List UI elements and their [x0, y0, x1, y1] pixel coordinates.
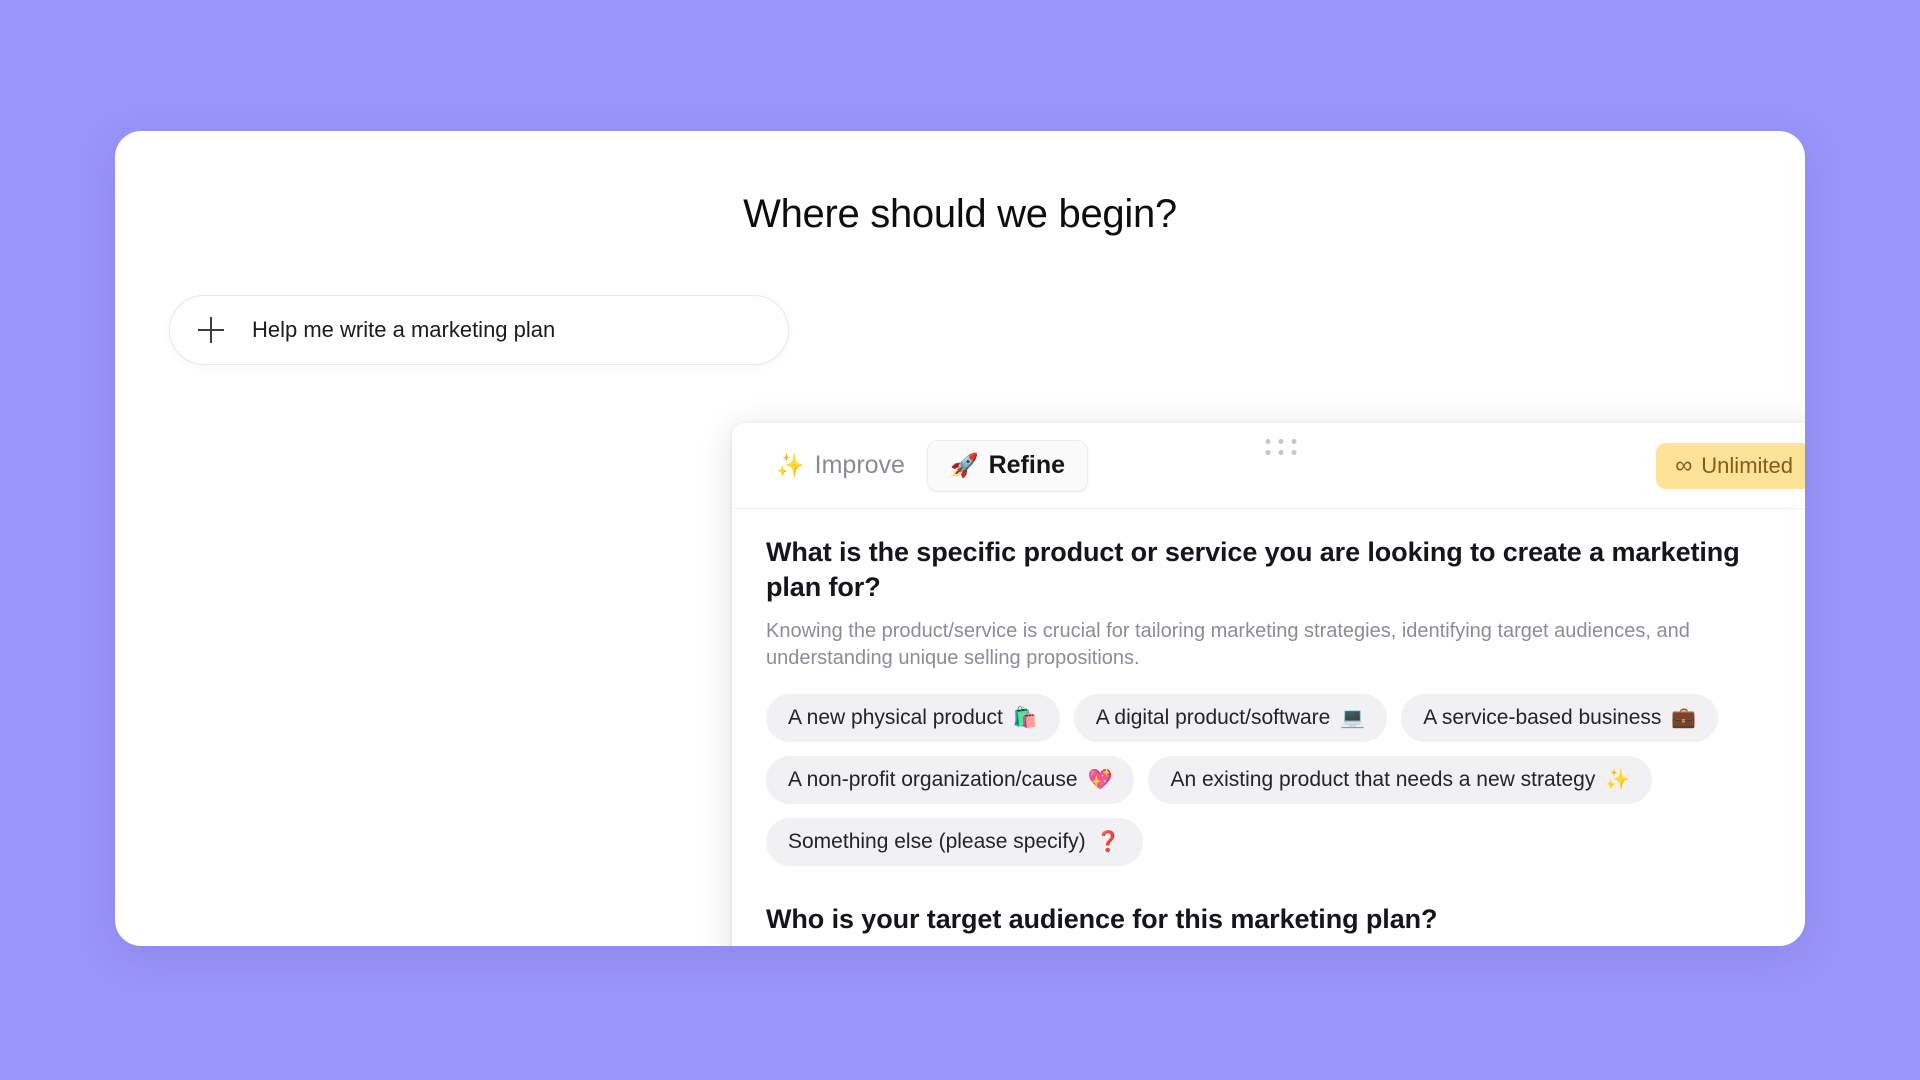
option-chip[interactable]: A service-based business 💼 — [1401, 694, 1718, 742]
rocket-icon: 🚀 — [950, 454, 979, 477]
plus-icon[interactable] — [198, 317, 224, 343]
drag-dot — [1279, 439, 1284, 444]
sparkles-icon: ✨ — [776, 454, 805, 477]
drag-dot — [1266, 439, 1271, 444]
option-chip[interactable]: An existing product that needs a new str… — [1148, 756, 1652, 804]
drag-handle-dots-icon[interactable] — [1266, 439, 1297, 455]
sparkling-heart-icon: 💖 — [1088, 770, 1113, 790]
option-chip-label: Something else (please specify) — [788, 830, 1086, 854]
option-chip-label: A digital product/software — [1096, 706, 1331, 730]
drag-dot — [1292, 439, 1297, 444]
infinity-icon: ∞ — [1675, 454, 1692, 478]
drag-dot — [1292, 450, 1297, 455]
briefcase-icon: 💼 — [1671, 708, 1696, 728]
option-chip[interactable]: Something else (please specify) ❓ — [766, 818, 1143, 866]
unlimited-badge[interactable]: ∞ Unlimited — [1656, 443, 1805, 489]
question-block: Who is your target audience for this mar… — [766, 902, 1796, 946]
composer-input[interactable]: Help me write a marketing plan — [169, 295, 789, 365]
option-chip-label: A new physical product — [788, 706, 1003, 730]
question-description: Knowing the product/service is crucial f… — [766, 618, 1796, 672]
laptop-icon: 💻 — [1340, 708, 1365, 728]
option-chip-label: An existing product that needs a new str… — [1170, 768, 1595, 792]
question-mark-icon: ❓ — [1096, 832, 1121, 852]
app-card: Where should we begin? Help me write a m… — [115, 131, 1805, 946]
question-title: What is the specific product or service … — [766, 535, 1776, 604]
shopping-bags-icon: 🛍️ — [1013, 708, 1038, 728]
drag-dot — [1279, 450, 1284, 455]
question-title: Who is your target audience for this mar… — [766, 902, 1776, 937]
tab-refine-label: Refine — [989, 451, 1065, 480]
question-block: What is the specific product or service … — [766, 535, 1796, 866]
option-chip-label: A non-profit organization/cause — [788, 768, 1078, 792]
option-chip[interactable]: A non-profit organization/cause 💖 — [766, 756, 1134, 804]
panel-header: ✨ Improve 🚀 Refine ∞ Unlimited — [732, 423, 1805, 509]
page-title: Where should we begin? — [115, 192, 1805, 237]
option-chip[interactable]: A new physical product 🛍️ — [766, 694, 1060, 742]
question-options: A new physical product 🛍️ A digital prod… — [766, 694, 1776, 866]
panel-body[interactable]: What is the specific product or service … — [732, 509, 1805, 946]
option-chip[interactable]: A digital product/software 💻 — [1074, 694, 1388, 742]
drag-dot — [1266, 450, 1271, 455]
option-chip-label: A service-based business — [1423, 706, 1661, 730]
tab-improve-label: Improve — [815, 451, 905, 480]
unlimited-badge-label: Unlimited — [1701, 453, 1793, 479]
tab-improve[interactable]: ✨ Improve — [754, 440, 927, 492]
composer-text: Help me write a marketing plan — [252, 317, 555, 343]
sparkles-icon: ✨ — [1605, 770, 1630, 790]
tab-refine[interactable]: 🚀 Refine — [927, 440, 1088, 492]
refine-panel: ✨ Improve 🚀 Refine ∞ Unlimited What is t… — [732, 423, 1805, 946]
